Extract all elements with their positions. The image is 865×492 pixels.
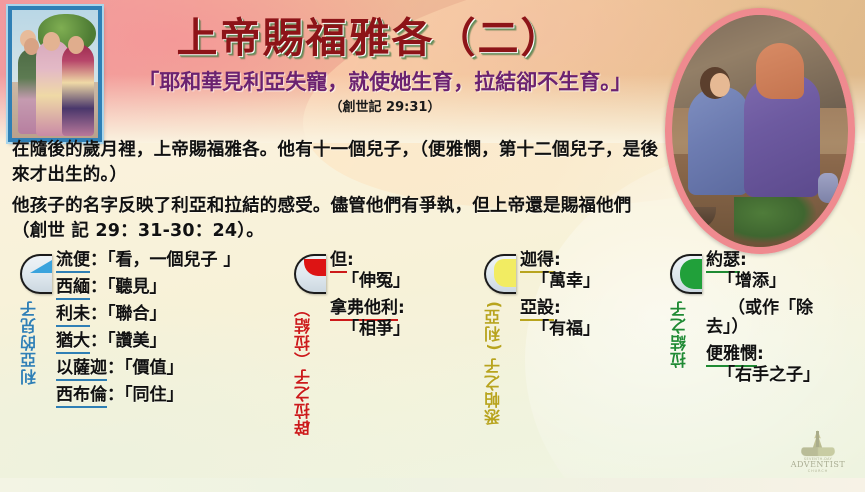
clay-jug-shape (818, 173, 838, 203)
figure-right-shape (62, 44, 94, 136)
son-meaning-alt-1: （或作「除 (728, 300, 865, 317)
list-item: 猶大：「讚美」 (56, 333, 328, 350)
half-disc-bullet-red-icon (294, 254, 326, 294)
seated-figure-left-face (710, 73, 730, 97)
son-name: 便雅憫 (706, 344, 757, 367)
seated-figure-right-veil (756, 43, 804, 99)
list-item: 以薩迦：「價值」 (56, 360, 328, 377)
figure-middle-head (43, 32, 60, 51)
seated-figure-left (688, 87, 748, 195)
son-name: 西布倫 (56, 385, 107, 408)
son-colon: : (740, 250, 747, 270)
open-book-shape (800, 447, 836, 456)
son-meaning: ：「看，一個兒子 」 (90, 250, 240, 270)
list-item: 約瑟: (706, 252, 865, 269)
column-label-bilhah: 辟拉之子（拉結） (292, 300, 316, 436)
figure-right-head (68, 36, 84, 54)
body-paragraph-2: 他孩子的名字反映了利亞和拉結的感受。儘管他們有爭執，但上帝還是賜福他們（創世 記… (12, 194, 660, 244)
list-item: 西布倫：「同住」 (56, 387, 328, 404)
slide-title: 上帝賜福雅各（二） (140, 4, 600, 64)
column-label-zilpah: 悉帕之子 (利亞) (482, 300, 506, 425)
column-label-leah: 利亞的兒子 (18, 300, 42, 385)
column-label-rachel: 拉結之子 (668, 300, 692, 368)
son-name: 但 (330, 250, 347, 273)
list-item: 流便：「看，一個兒子 」 (56, 252, 328, 269)
cross-shape (816, 431, 819, 447)
son-colon: : (398, 298, 405, 318)
mandrake-plants-shape (734, 197, 816, 243)
son-name: 利未 (56, 304, 90, 327)
adventist-church-logo: SEVENTH-DAY ADVENTIST CHURCH (783, 432, 853, 484)
son-meaning: 「右手之子」 (718, 367, 865, 384)
son-name: 迦得 (520, 250, 554, 273)
son-colon: : (347, 250, 354, 270)
left-framed-illustration (8, 6, 102, 142)
right-oval-illustration (665, 8, 855, 254)
body-paragraph-1: 在隨後的歲月裡，上帝賜福雅各。他有十一個兒子，（便雅憫，第十二個兒子，是後來才出… (12, 138, 660, 188)
list-item: 利未：「聯合」 (56, 306, 328, 323)
son-name: 西緬 (56, 277, 90, 300)
scripture-reference: （創世記 29:31） (100, 96, 670, 115)
body-text-block: 在隨後的歲月裡，上帝賜福雅各。他有十一個兒子，（便雅憫，第十二個兒子，是後來才出… (12, 138, 660, 249)
son-meaning: ：「同住」 (107, 385, 184, 405)
half-disc-bullet-blue-icon (20, 254, 52, 294)
son-meaning: ：「聽見」 (90, 277, 167, 297)
logo-line-3: CHURCH (783, 469, 853, 473)
entries-rachel: 約瑟: 「增添」 （或作「除 去」） 便雅憫: 「右手之子」 (706, 252, 865, 394)
son-meaning: ：「聯合」 (90, 304, 167, 324)
son-name: 拿弗他利 (330, 298, 398, 321)
entries-leah: 流便：「看，一個兒子 」 西緬：「聽見」 利未：「聯合」 猶大：「讚美」 以薩迦… (56, 252, 328, 414)
slide-root: 上帝賜福雅各（二） 「耶和華見利亞失寵，就使她生育，拉結卻不生育。」 （創世記 … (0, 0, 865, 492)
son-meaning-alt-2: 去」） (706, 319, 865, 336)
scripture-quote: 「耶和華見利亞失寵，就使她生育，拉結卻不生育。」 (100, 66, 670, 96)
son-name: 以薩迦 (56, 358, 107, 381)
son-colon: : (757, 344, 764, 364)
list-item: 西緬：「聽見」 (56, 279, 328, 296)
sons-columns-group: 利亞的兒子 流便：「看，一個兒子 」 西緬：「聽見」 利未：「聯合」 猶大：「讚… (0, 252, 865, 492)
logo-line-2: ADVENTIST (783, 461, 853, 469)
son-meaning: ：「讚美」 (90, 331, 167, 351)
son-name: 約瑟 (706, 250, 740, 273)
son-name: 猶大 (56, 331, 90, 354)
son-colon: : (554, 250, 561, 270)
logo-flame-icon (801, 432, 835, 456)
half-disc-bullet-yellow-icon (484, 254, 516, 294)
son-name: 流便 (56, 250, 90, 273)
half-disc-bullet-green-icon (670, 254, 702, 294)
son-name: 亞設 (520, 298, 554, 321)
son-meaning: 「增添」 (718, 273, 865, 290)
list-item: 便雅憫: (706, 346, 865, 363)
son-colon: : (554, 298, 561, 318)
list-item: 但: (330, 252, 508, 269)
son-meaning: ：「價值」 (107, 358, 184, 378)
